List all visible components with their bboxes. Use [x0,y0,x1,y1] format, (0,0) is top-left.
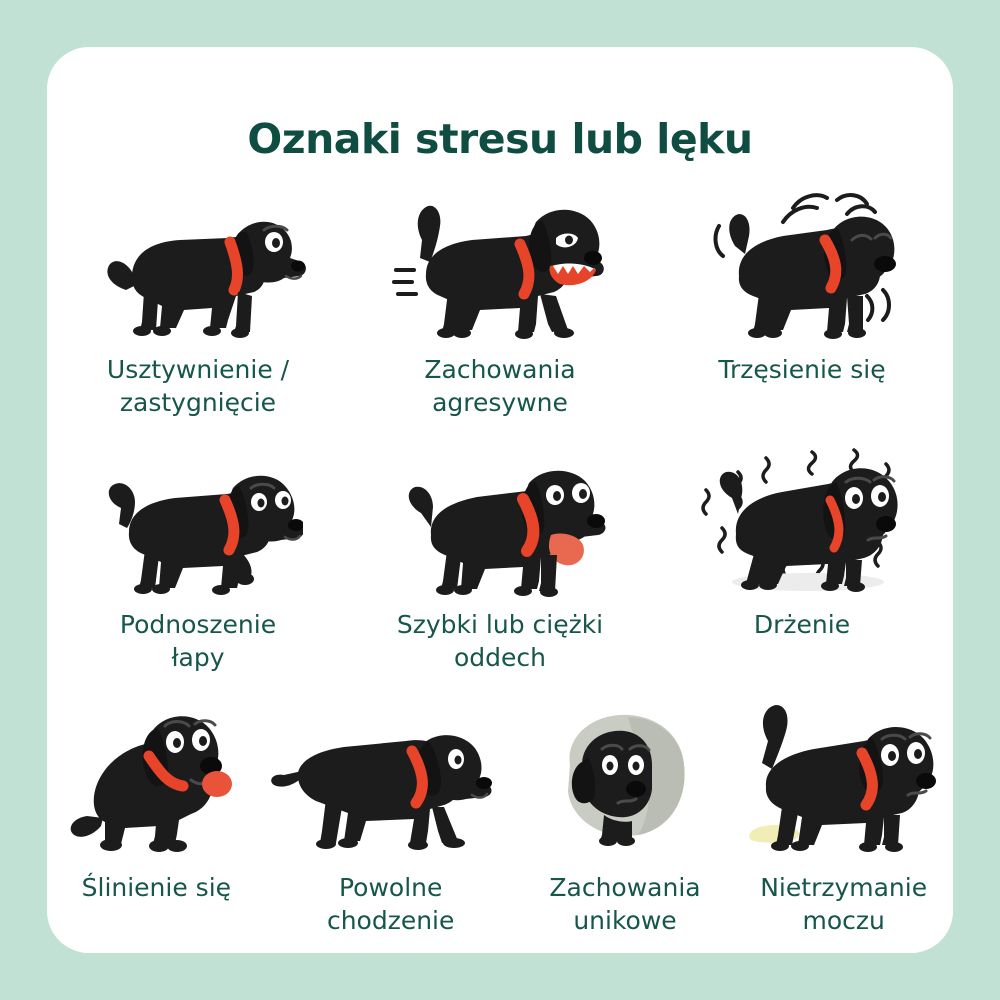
dog-trembling-icon [651,437,953,602]
dog-urination-icon [734,690,953,865]
sign-label: Ślinienie się [82,871,231,904]
dog-panting-icon [349,437,651,602]
sign-item-paw-lift: Podnoszenie łapy [47,437,349,674]
signs-row: Podnoszenie łapy [47,437,953,674]
sign-label: Szybki lub ciężki oddech [397,608,603,674]
poster-card: Oznaki stresu lub lęku [47,47,953,953]
sign-label: Zachowania agresywne [424,353,575,419]
sign-item-slow-walking: Powolne chodzenie [266,690,516,937]
sign-item-stiff-freeze: Usztywnienie / zastygnięcie [47,177,349,419]
dog-slow-walking-icon [266,690,516,865]
signs-row: Ślinienie się [47,690,953,937]
dog-aggressive-icon [349,177,651,347]
dog-shaking-icon [651,177,953,347]
sign-label: Nietrzymanie moczu [760,871,927,937]
signs-grid: Usztywnienie / zastygnięcie [47,177,953,937]
sign-label: Powolne chodzenie [327,871,454,937]
sign-item-panting: Szybki lub ciężki oddech [349,437,651,674]
dog-paw-lift-icon [47,437,349,602]
stress-signs-poster: Oznaki stresu lub lęku [0,0,1000,1000]
sign-label: Trzęsienie się [718,353,885,386]
page-title: Oznaki stresu lub lęku [47,115,953,163]
sign-item-avoidance: Zachowania unikowe [516,690,735,937]
dog-avoidance-icon [516,690,735,865]
sign-item-shaking: Trzęsienie się [651,177,953,386]
sign-item-urination: Nietrzymanie moczu [734,690,953,937]
sign-label: Drżenie [754,608,850,641]
dog-stiff-freeze-icon [47,177,349,347]
sign-label: Usztywnienie / zastygnięcie [107,353,289,419]
sign-item-aggressive: Zachowania agresywne [349,177,651,419]
sign-item-trembling: Drżenie [651,437,953,641]
sign-label: Zachowania unikowe [549,871,700,937]
signs-row: Usztywnienie / zastygnięcie [47,177,953,419]
dog-drooling-icon [47,690,266,865]
sign-item-drooling: Ślinienie się [47,690,266,904]
sign-label: Podnoszenie łapy [120,608,276,674]
